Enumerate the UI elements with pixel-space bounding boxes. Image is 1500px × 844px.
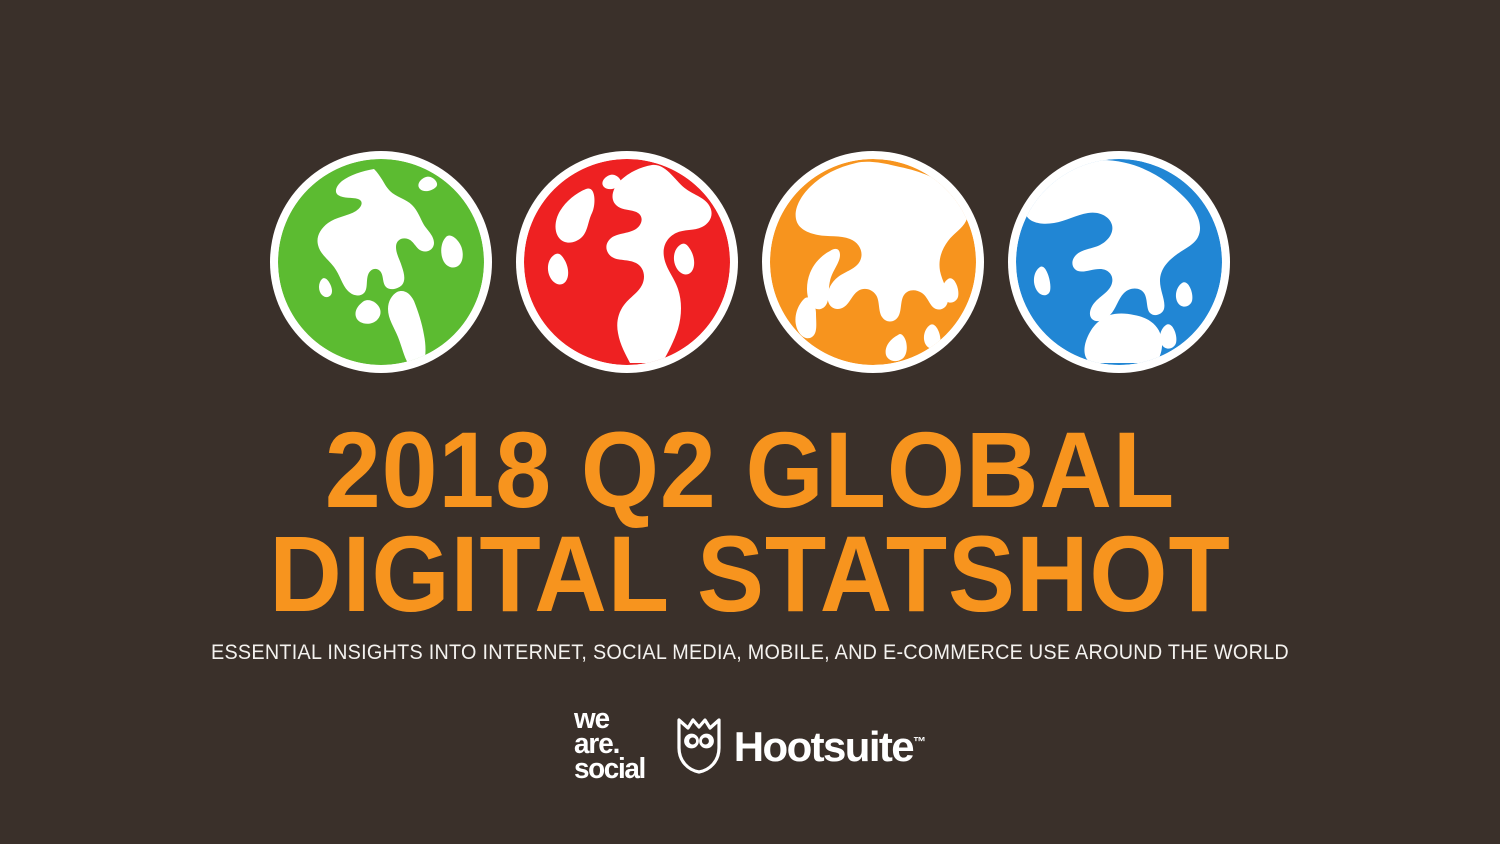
title-block: 2018 Q2 GLOBAL DIGITAL STATSHOT ESSENTIA… [0, 418, 1500, 664]
hootsuite-wordmark: Hootsuite™ [734, 721, 926, 768]
globe-europe-africa-disc [524, 159, 730, 365]
globe-asia [762, 151, 984, 373]
we-are-social-logo[interactable]: we are. social [574, 707, 645, 782]
globe-americas [270, 151, 492, 373]
globe-americas-disc [278, 159, 484, 365]
hootsuite-logo[interactable]: Hootsuite™ [676, 716, 926, 774]
globe-europe-africa [516, 151, 738, 373]
logo-row: we are. social Hootsuite™ [0, 707, 1500, 782]
title-line-1: 2018 Q2 GLOBAL [53, 418, 1448, 522]
globe-oceania-disc [1016, 159, 1222, 365]
globe-asia-disc [770, 159, 976, 365]
trademark-symbol: ™ [913, 734, 926, 749]
title-line-2: DIGITAL STATSHOT [53, 522, 1448, 626]
owl-icon [676, 716, 722, 774]
globe-oceania [1008, 151, 1230, 373]
globe-row [0, 143, 1500, 381]
hootsuite-wordmark-text: Hootsuite [734, 723, 913, 770]
we-are-social-line-3: social [574, 757, 645, 782]
subtitle: ESSENTIAL INSIGHTS INTO INTERNET, SOCIAL… [60, 640, 1440, 664]
slide-root: 2018 Q2 GLOBAL DIGITAL STATSHOT ESSENTIA… [0, 0, 1500, 844]
